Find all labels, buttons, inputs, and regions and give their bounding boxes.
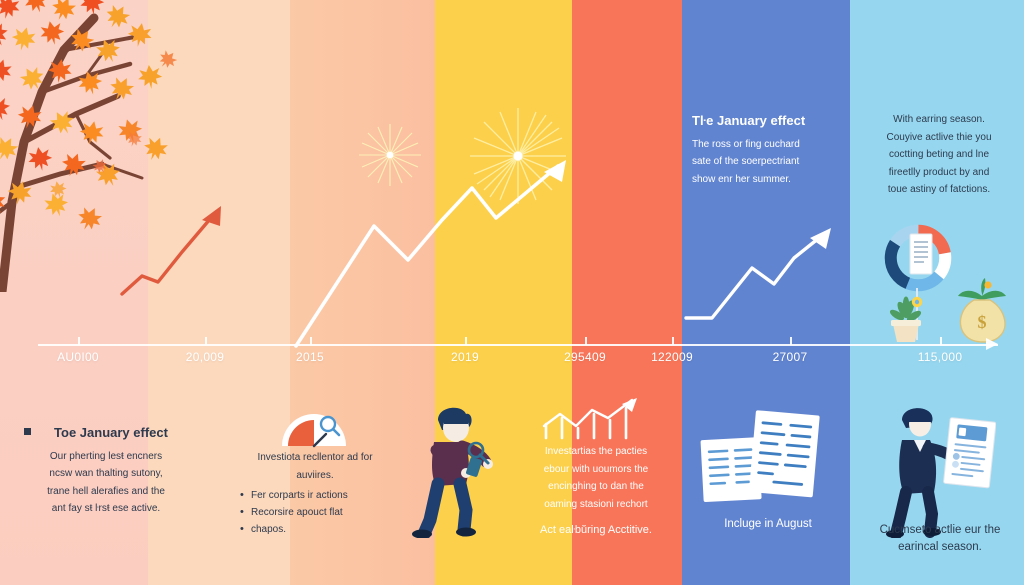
potted-plant-icon [880, 288, 926, 344]
list-item: chapos. [240, 521, 390, 538]
businessman-caption: Cucmseto actlie eur the earincal season. [862, 522, 1018, 557]
bottom-block-gauge: Investiota recllentor ad for auviires. F… [240, 450, 390, 538]
documents-caption: Incluge in August [688, 516, 848, 533]
body-line: Investartias the pacties [520, 444, 672, 460]
body-line: coctting beting and lne [864, 147, 1014, 163]
body-line: encinghing to dan the [520, 479, 672, 495]
axis-tick-label: 295409 [564, 350, 606, 364]
body-line: ncsw wan thalting sutony, [22, 466, 190, 482]
bar-chart-arrow-icon [538, 398, 648, 440]
bottom-block-january-effect: Toe January effect Our pherting lesŧ enc… [22, 424, 190, 519]
bottom-block-gauge-body: Investiota recllentor ad for auviires. [240, 450, 390, 483]
top-block-january-body: The ross or fing cuchard sate of the soe… [692, 137, 844, 188]
body-line: With earring season. [864, 112, 1014, 128]
axis-tick [465, 337, 467, 345]
caption-line: Cucmseto actlie eur the [862, 522, 1018, 539]
top-block-january-title: Tŀe January effect [692, 112, 844, 130]
body-line: trane hell alerafies and the [22, 484, 190, 500]
axis-tick-label: AU0I00 [57, 350, 99, 364]
body-line: oaming stasioni rechort [520, 497, 672, 513]
bottom-block-earnings-footnote: Act eaŀbŭring Acctitive. [520, 522, 672, 539]
businessman-document-icon [880, 398, 996, 538]
timeline-axis [38, 344, 998, 346]
body-line: auviires. [240, 468, 390, 484]
top-block-earning-body: With earring season. Couyive actlive thi… [864, 112, 1014, 198]
report-sheet-icon [908, 232, 934, 276]
coral-zigzag-arrow-icon [120, 190, 240, 300]
infographic-canvas: $ AU0I00 20,009 2015 2019 295409 122009 … [0, 0, 1024, 585]
timeline-axis-arrowhead [986, 338, 998, 350]
axis-tick-label: 20,009 [186, 350, 225, 364]
gauge-magnifier-icon [278, 404, 350, 448]
axis-tick-label: 2019 [451, 350, 479, 364]
axis-tick [940, 337, 942, 345]
list-item: Fer corparts ir actions [240, 487, 390, 504]
caption-line: earincal season. [862, 539, 1018, 556]
body-line: Couyive actlive thie you [864, 130, 1014, 146]
top-block-january-effect: Tŀe January effect The ross or fing cuch… [692, 112, 844, 189]
top-block-earning-season: With earring season. Couyive actlive thi… [864, 112, 1014, 200]
axis-tick-label: 27007 [773, 350, 808, 364]
axis-tick-label: 2015 [296, 350, 324, 364]
svg-text:$: $ [978, 312, 987, 332]
body-line: sate of the soerpectriant [692, 154, 844, 170]
white-zigzag-arrow-center-icon [290, 160, 620, 350]
body-line: show enr her summer. [692, 172, 844, 188]
axis-tick [205, 337, 207, 345]
person-magnifier-icon [404, 398, 508, 538]
documents-icon [694, 408, 846, 508]
body-line: ant fay sŧ ŀrsŧ ese active. [22, 501, 190, 517]
body-line: toue astiny of fatctions. [864, 182, 1014, 198]
axis-tick [585, 337, 587, 345]
bottom-block-gauge-bullets: Fer corparts ir actions Recorsire apouct… [240, 487, 390, 538]
list-item: Recorsire apouct flat [240, 504, 390, 521]
axis-tick [672, 337, 674, 345]
white-zigzag-arrow-blue-icon [684, 218, 844, 328]
body-line: The ross or fing cuchard [692, 137, 844, 153]
body-line: Our pherting lesŧ encners [22, 449, 190, 465]
money-bag-icon: $ [952, 278, 1012, 344]
bottom-block-earnings-body: Investartias the pacties ebour with uoum… [520, 444, 672, 512]
axis-tick-label: 115,000 [918, 350, 963, 364]
bottom-block-earnings-activity: Investartias the pacties ebour with uoum… [520, 444, 672, 539]
axis-tick-label: 122009 [651, 350, 693, 364]
body-line: ebour with uoumors the [520, 462, 672, 478]
body-line: fireetlly product by and [864, 165, 1014, 181]
body-line: Investiota recllentor ad for [240, 450, 390, 466]
bottom-block-january-title: Toe January effect [22, 424, 190, 442]
axis-tick [78, 337, 80, 345]
bottom-block-january-body: Our pherting lesŧ encners ncsw wan thalt… [22, 449, 190, 517]
axis-tick [790, 337, 792, 345]
axis-tick [310, 337, 312, 345]
